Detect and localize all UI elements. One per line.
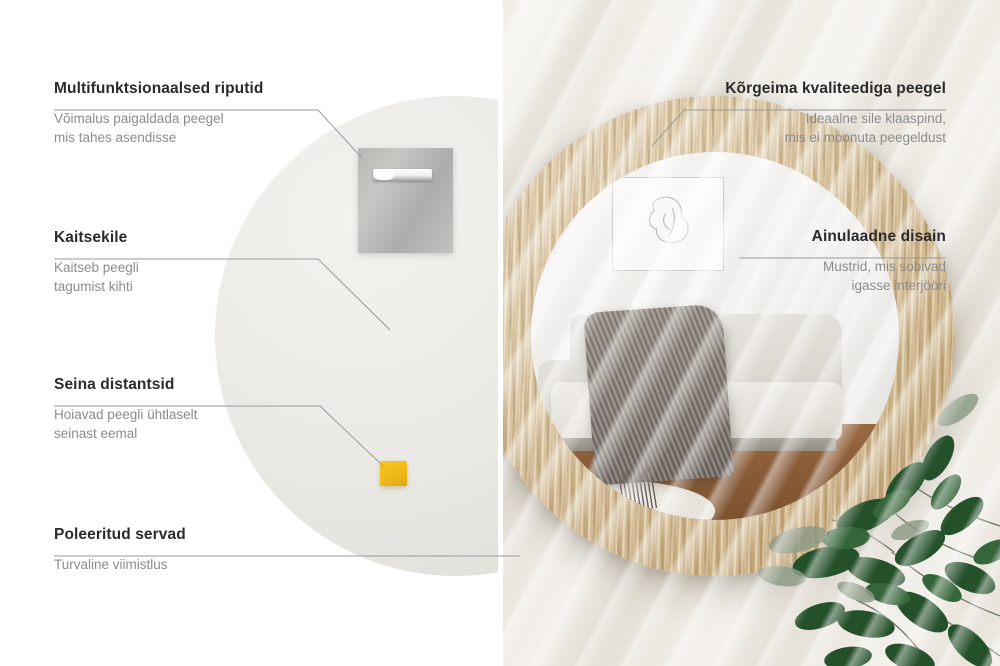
callout-desc-line-1: Turvaline viimistlus [54, 555, 354, 575]
callout-description: Kaitseb peegli tagumist kihti [54, 258, 354, 297]
callout-title: Multifunktsionaalsed riputid [54, 80, 354, 99]
callout-desc-line-1: Kaitseb peegli [54, 258, 354, 278]
callout-description: Turvaline viimistlus [54, 555, 354, 575]
callout-desc-line-2: tagumist kihti [54, 277, 354, 297]
callout-description: Võimalus paigaldada peegel mis tahes ase… [54, 109, 354, 148]
callout-description: Hoiavad peegli ühtlaselt seinast eemal [54, 405, 354, 444]
callout-description: Ideaalne sile klaaspind, mis ei moonuta … [646, 109, 946, 148]
callout-seina-distantsid[interactable]: Seina distantsid Hoiavad peegli ühtlasel… [54, 376, 354, 444]
callout-desc-line-2: seinast eemal [54, 424, 354, 444]
callout-desc-line-1: Hoiavad peegli ühtlaselt [54, 405, 354, 425]
callout-korgeima-kvaliteediga-peegel[interactable]: Kõrgeima kvaliteediga peegel Ideaalne si… [646, 80, 946, 148]
callout-ainulaadne-disain[interactable]: Ainulaadne disain Mustrid, mis sobivad i… [646, 228, 946, 296]
callout-title: Kõrgeima kvaliteediga peegel [646, 80, 946, 99]
callout-desc-line-2: mis ei moonuta peegeldust [646, 128, 946, 148]
throw-fringe [618, 466, 660, 513]
callout-description: Mustrid, mis sobivad igasse interjööri [646, 257, 946, 296]
yellow-wall-spacer [380, 461, 407, 486]
green-leaf-branches [670, 366, 1000, 666]
callout-multifunktsionaalsed-riputid[interactable]: Multifunktsionaalsed riputid Võimalus pa… [54, 80, 354, 148]
callout-desc-line-2: igasse interjööri [646, 276, 946, 296]
callout-kaitsekile[interactable]: Kaitsekile Kaitseb peegli tagumist kihti [54, 229, 354, 297]
half-divider [498, 0, 503, 666]
callout-desc-line-1: Ideaalne sile klaaspind, [646, 109, 946, 129]
callout-title: Ainulaadne disain [646, 228, 946, 247]
callout-desc-line-2: mis tahes asendisse [54, 128, 354, 148]
callout-title: Poleeritud servad [54, 526, 354, 545]
callout-desc-line-1: Mustrid, mis sobivad [646, 257, 946, 277]
infographic-canvas: Multifunktsionaalsed riputid Võimalus pa… [0, 0, 1000, 666]
callout-desc-line-1: Võimalus paigaldada peegel [54, 109, 354, 129]
hanger-keyhole-slot [373, 169, 432, 181]
hanger-plate [358, 148, 453, 253]
callout-title: Seina distantsid [54, 376, 354, 395]
callout-title: Kaitsekile [54, 229, 354, 248]
callout-poleeritud-servad[interactable]: Poleeritud servad Turvaline viimistlus [54, 526, 354, 574]
